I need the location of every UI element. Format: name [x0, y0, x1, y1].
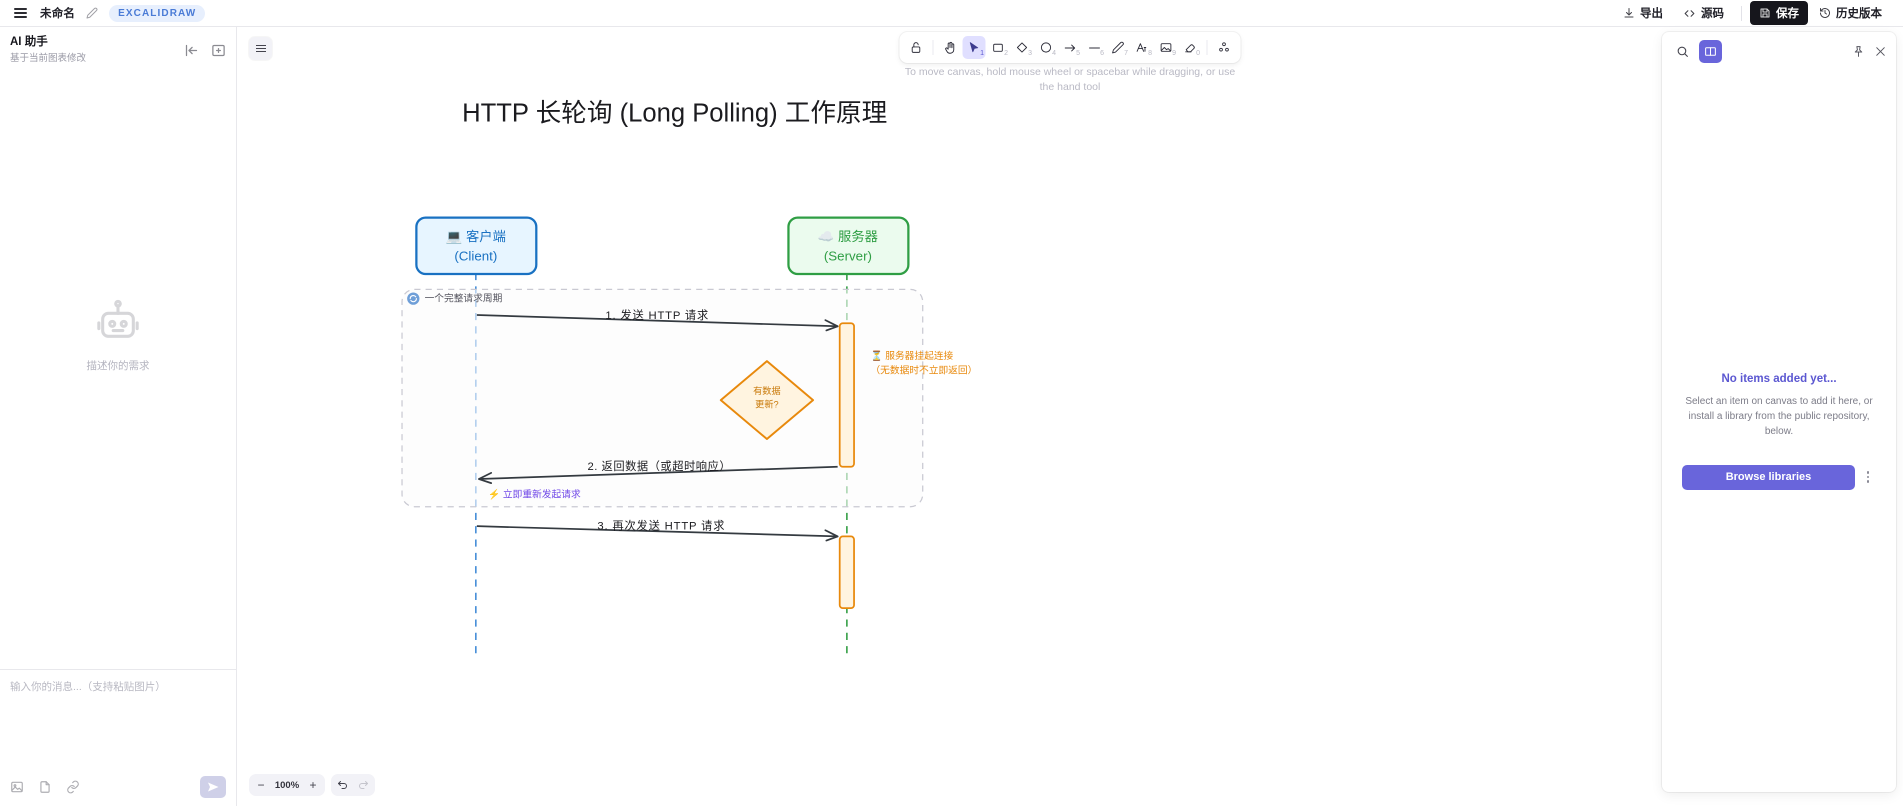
library-search-button[interactable]	[1671, 40, 1694, 63]
server-note-line1: ⏳ 服务器挂起连接	[870, 349, 953, 362]
library-empty-description: Select an item on canvas to add it here,…	[1682, 394, 1876, 439]
ai-composer-toolbar	[10, 776, 226, 798]
message-label-3: 3. 再次发送 HTTP 请求	[597, 518, 725, 532]
message-label-2: 2. 返回数据（或超时响应）	[587, 459, 731, 473]
history-group	[331, 774, 375, 796]
client-note: ⚡ 立即重新发起请求	[488, 487, 581, 500]
hamburger-icon[interactable]	[12, 6, 29, 20]
server-note-line2: （无数据时不立即返回）	[870, 363, 977, 376]
ai-empty-text: 描述你的需求	[87, 358, 150, 373]
canvas-area[interactable]: 1 2 3 4 5	[237, 27, 1903, 806]
document-title[interactable]: 未命名	[40, 5, 75, 21]
floppy-icon	[1759, 7, 1771, 19]
server-label: ☁️ 服务器	[818, 229, 878, 244]
ai-composer[interactable]: 输入你的消息...（支持粘贴图片）	[0, 669, 236, 806]
redo-button[interactable]	[353, 775, 373, 795]
message-label-1: 1. 发送 HTTP 请求	[605, 308, 709, 322]
topbar-left-group: 未命名 EXCALIDRAW	[12, 5, 205, 22]
robot-icon	[95, 298, 141, 344]
library-empty-title: No items added yet...	[1721, 373, 1836, 385]
library-actions: Browse libraries	[1682, 465, 1876, 490]
ai-panel-title: AI 助手	[10, 35, 184, 51]
pin-icon[interactable]	[1852, 45, 1865, 58]
kebab-menu-icon[interactable]	[1860, 471, 1876, 483]
loop-label: 一个完整请求周期	[425, 292, 503, 305]
loop-icon	[407, 292, 419, 304]
pencil-icon[interactable]	[86, 7, 98, 19]
zoom-value[interactable]: 100%	[271, 780, 303, 791]
save-label: 保存	[1776, 5, 1799, 21]
brand-badge: EXCALIDRAW	[109, 5, 205, 22]
undo-button[interactable]	[333, 775, 353, 795]
image-attach-icon[interactable]	[10, 780, 24, 794]
server-activation-1	[840, 323, 854, 467]
ai-assistant-panel: AI 助手 基于当前图表修改 描述你的需求	[0, 27, 237, 806]
decision-label-1: 有数据	[753, 385, 781, 396]
undo-icon	[337, 779, 349, 791]
send-icon	[207, 781, 219, 793]
search-icon	[1676, 45, 1689, 58]
topbar-actions: 导出 源码 保存 历史版本	[1614, 1, 1891, 25]
client-box	[416, 218, 536, 274]
topbar-divider	[1741, 6, 1742, 21]
app-body: AI 助手 基于当前图表修改 描述你的需求	[0, 27, 1903, 806]
library-panel-header	[1662, 32, 1896, 70]
top-bar: 未命名 EXCALIDRAW 导出 源码 保存 历史版本	[0, 0, 1903, 27]
zoom-out-button[interactable]: −	[251, 775, 271, 795]
library-panel: No items added yet... Select an item on …	[1662, 32, 1896, 792]
new-panel-icon[interactable]	[211, 43, 226, 58]
library-book-icon	[1704, 45, 1717, 58]
library-toggle-button[interactable]	[1699, 40, 1722, 63]
library-empty-state: No items added yet... Select an item on …	[1662, 70, 1896, 792]
app-root: 未命名 EXCALIDRAW 导出 源码 保存 历史版本	[0, 0, 1903, 806]
ai-panel-header: AI 助手 基于当前图表修改	[0, 27, 236, 72]
ai-panel-header-actions	[184, 35, 226, 58]
collapse-left-icon[interactable]	[184, 43, 199, 58]
zoom-in-button[interactable]: +	[303, 775, 323, 795]
code-icon	[1683, 7, 1696, 20]
clock-history-icon	[1819, 7, 1831, 19]
sequence-diagram[interactable]: HTTP 长轮询 (Long Polling) 工作原理 一个完整请求周期 💻 …	[237, 27, 1903, 806]
client-label: 💻 客户端	[446, 228, 506, 244]
diagram-title: HTTP 长轮询 (Long Polling) 工作原理	[462, 98, 887, 127]
browse-libraries-button[interactable]: Browse libraries	[1682, 465, 1855, 490]
history-button[interactable]: 历史版本	[1810, 1, 1891, 25]
close-icon[interactable]	[1874, 45, 1887, 58]
source-label: 源码	[1701, 5, 1724, 21]
export-label: 导出	[1640, 5, 1663, 21]
ai-panel-heading-group: AI 助手 基于当前图表修改	[10, 35, 184, 65]
zoom-controls: − 100% +	[249, 774, 375, 796]
decision-label-2: 更新?	[755, 398, 779, 409]
ai-panel-subtitle: 基于当前图表修改	[10, 53, 184, 65]
file-attach-icon[interactable]	[38, 780, 52, 794]
client-sublabel: (Client)	[454, 249, 497, 264]
source-button[interactable]: 源码	[1674, 1, 1733, 25]
zoom-group: − 100% +	[249, 774, 325, 796]
history-label: 历史版本	[1836, 5, 1882, 21]
link-icon[interactable]	[66, 780, 80, 794]
server-box	[788, 218, 908, 274]
server-sublabel: (Server)	[824, 249, 872, 264]
export-button[interactable]: 导出	[1614, 1, 1672, 25]
ai-composer-placeholder[interactable]: 输入你的消息...（支持粘贴图片）	[10, 680, 226, 695]
ai-empty-state: 描述你的需求	[0, 72, 236, 669]
library-header-actions	[1852, 45, 1887, 58]
download-icon	[1623, 7, 1635, 19]
server-activation-2	[840, 536, 854, 608]
save-button[interactable]: 保存	[1750, 1, 1808, 25]
ai-send-button[interactable]	[200, 776, 226, 798]
redo-icon	[357, 779, 369, 791]
